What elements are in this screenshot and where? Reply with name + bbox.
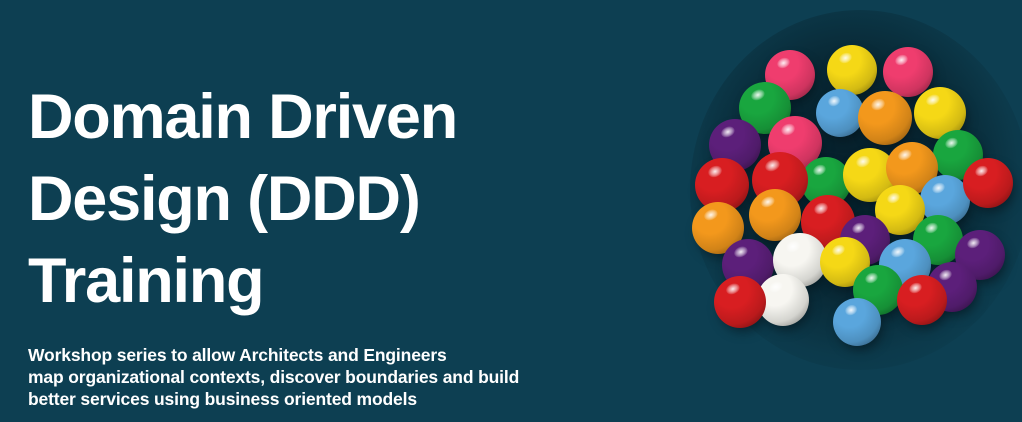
gumball-green [913, 215, 963, 265]
gumball-shadow [936, 136, 986, 186]
gumball-shadow [742, 88, 794, 140]
gumball-yellow [914, 87, 966, 139]
gumball-blue [879, 239, 931, 291]
gumball-purple [955, 230, 1005, 280]
gumball-yellow [843, 148, 897, 202]
gumball-green [801, 157, 851, 207]
gumball-yellow [827, 45, 877, 95]
cluster-glow [690, 10, 1022, 370]
gumball-shadow [846, 154, 900, 208]
gumball-shadow [760, 280, 812, 332]
gumball-shadow [804, 163, 854, 213]
gumball-white [757, 274, 809, 326]
gumball-red [963, 158, 1013, 208]
gumball-shadow [768, 56, 818, 106]
gumball-shadow [930, 268, 980, 318]
gumball-shadow [878, 191, 928, 241]
gumball-shadow [776, 239, 830, 293]
gumball-pink [765, 50, 815, 100]
gumball-blue [833, 298, 881, 346]
gumball-shadow [900, 281, 950, 331]
training-banner: Domain Driven Design (DDD) Training Work… [0, 0, 1022, 422]
gumball-shadow [755, 158, 811, 214]
gumball-purple [840, 215, 890, 265]
gumball-blue [920, 175, 970, 225]
page-title: Domain Driven Design (DDD) Training [28, 76, 628, 322]
gumball-shadow [804, 201, 858, 255]
page-subtitle: Workshop series to allow Architects and … [28, 344, 668, 411]
gumball-shadow [717, 282, 769, 334]
gumball-shadow [695, 208, 747, 260]
gumball-purple [927, 262, 977, 312]
gumball-blue [816, 89, 864, 137]
gumball-shadow [966, 164, 1016, 214]
gumball-shadow [923, 181, 973, 231]
gumball-shadow [882, 245, 934, 297]
gumball-shadow [861, 97, 915, 151]
gumball-pink [883, 47, 933, 97]
gumball-shadow [958, 236, 1008, 286]
gumball-shadow [771, 122, 825, 176]
gumball-shadow [725, 245, 777, 297]
gumball-shadow [856, 271, 906, 321]
gumball-orange [858, 91, 912, 145]
gumball-shadow [819, 95, 867, 143]
gumball-red [752, 152, 808, 208]
gumball-shadow [917, 93, 969, 145]
gumball-yellow [820, 237, 870, 287]
gumball-shadow [886, 53, 936, 103]
gumball-pink [768, 116, 822, 170]
gumball-shadow [752, 195, 804, 247]
gumball-shadow [916, 221, 966, 271]
gumball-orange [749, 189, 801, 241]
gumball-green [933, 130, 983, 180]
gumball-orange [886, 142, 938, 194]
gumball-red [897, 275, 947, 325]
gumball-red [695, 158, 749, 212]
gumball-shadow [830, 51, 880, 101]
gumball-orange [692, 202, 744, 254]
gumball-green [739, 82, 791, 134]
gumball-shadow [698, 164, 752, 218]
gumball-red [714, 276, 766, 328]
gumball-purple [722, 239, 774, 291]
gumball-purple [709, 119, 761, 171]
gumball-shadow [889, 148, 941, 200]
gumball-red [801, 195, 855, 249]
gumball-green [853, 265, 903, 315]
gumball-yellow [875, 185, 925, 235]
gumball-shadow [712, 125, 764, 177]
gumball-white [773, 233, 827, 287]
gumball-shadow [843, 221, 893, 271]
gumball-shadow [823, 243, 873, 293]
gumball-shadow [836, 304, 884, 352]
